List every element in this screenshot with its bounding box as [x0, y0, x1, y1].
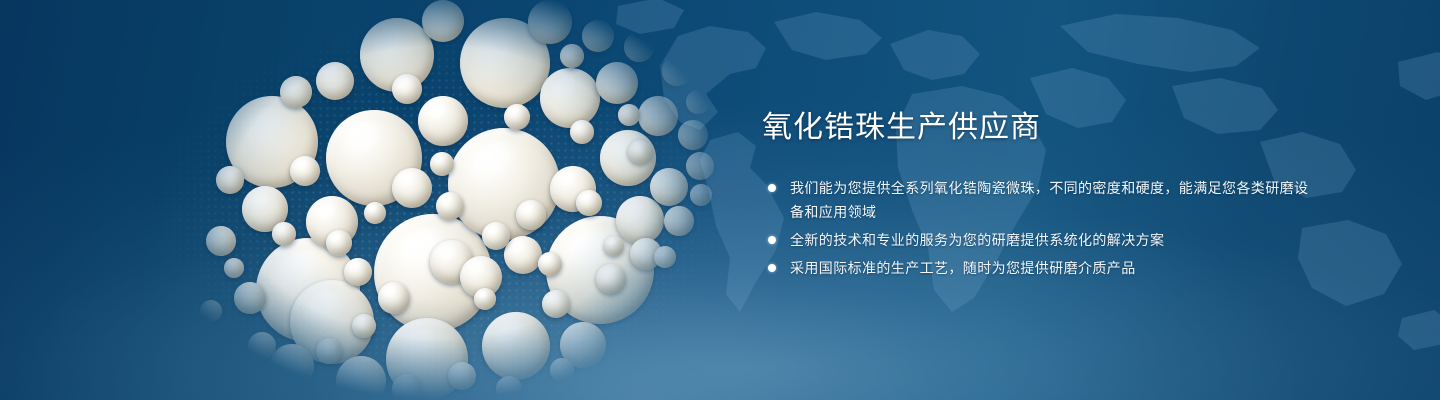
page-title: 氧化锆珠生产供应商 — [762, 108, 1322, 148]
list-item-label: 我们能为您提供全系列氧化锆陶瓷微珠，不同的密度和硬度，能满足您各类研磨设备和应用… — [790, 176, 1322, 224]
list-item: 全新的技术和专业的服务为您的研磨提供系统化的解决方案 — [762, 228, 1322, 252]
bullet-dot-icon — [768, 184, 776, 192]
list-item-label: 全新的技术和专业的服务为您的研磨提供系统化的解决方案 — [790, 228, 1322, 252]
banner-copy: 氧化锆珠生产供应商 我们能为您提供全系列氧化锆陶瓷微珠，不同的密度和硬度，能满足… — [762, 108, 1322, 284]
bullet-dot-icon — [768, 236, 776, 244]
list-item: 采用国际标准的生产工艺，随时为您提供研磨介质产品 — [762, 256, 1322, 280]
bullet-dot-icon — [768, 264, 776, 272]
feature-list: 我们能为您提供全系列氧化锆陶瓷微珠，不同的密度和硬度，能满足您各类研磨设备和应用… — [762, 176, 1322, 280]
zirconia-beads-photo — [130, 0, 750, 400]
list-item-label: 采用国际标准的生产工艺，随时为您提供研磨介质产品 — [790, 256, 1322, 280]
list-item: 我们能为您提供全系列氧化锆陶瓷微珠，不同的密度和硬度，能满足您各类研磨设备和应用… — [762, 176, 1322, 224]
hero-banner: 氧化锆珠生产供应商 我们能为您提供全系列氧化锆陶瓷微珠，不同的密度和硬度，能满足… — [0, 0, 1440, 400]
